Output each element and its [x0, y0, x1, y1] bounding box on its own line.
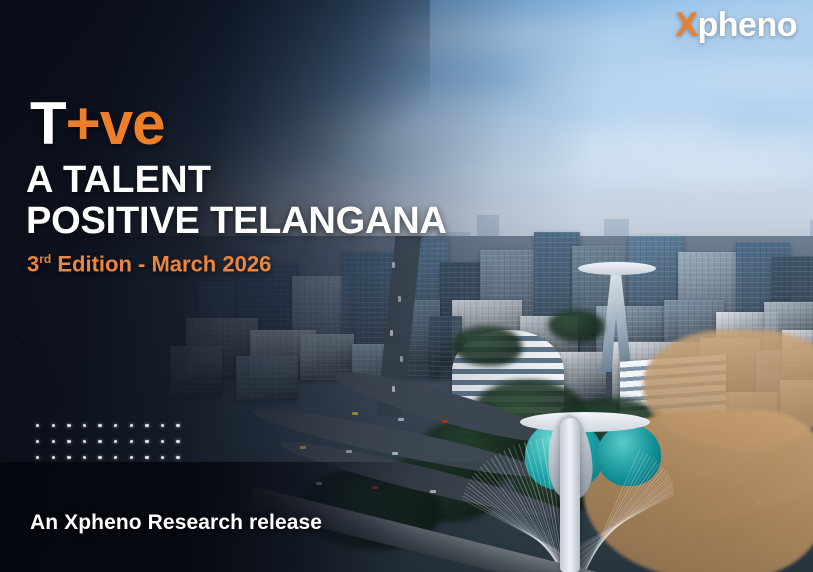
grid-dot [161, 424, 164, 427]
dot-grid-decoration [36, 424, 192, 472]
grid-dot [52, 440, 55, 443]
tve-wordmark: T+ve [30, 94, 164, 154]
tve-letter-t: T [30, 90, 66, 157]
tve-plus-ve: +ve [66, 90, 165, 157]
logo-x-mark: X [675, 6, 697, 44]
grid-dot [130, 440, 133, 443]
headline-line-2: POSITIVE TELANGANA [26, 201, 447, 242]
edition-ordinal-suffix: rd [39, 252, 51, 266]
grid-dot [161, 456, 164, 459]
grid-dot [114, 440, 117, 443]
grid-dot [130, 456, 133, 459]
grid-dot [176, 456, 179, 459]
grid-dot [114, 424, 117, 427]
grid-dot [98, 424, 101, 427]
grid-dot [161, 440, 164, 443]
grid-dot [36, 440, 39, 443]
grid-dot [145, 424, 148, 427]
grid-dot [67, 456, 70, 459]
xpheno-logo: Xpheno [675, 8, 797, 42]
grid-dot [83, 424, 86, 427]
grid-dot [114, 456, 117, 459]
grid-dot [176, 440, 179, 443]
logo-wordmark: pheno [698, 6, 797, 44]
headline-line-1: A TALENT [26, 159, 211, 201]
grid-dot [36, 424, 39, 427]
grid-dot [67, 440, 70, 443]
grid-dot [176, 424, 179, 427]
grid-dot [145, 440, 148, 443]
edition-label: 3rd Edition - March 2026 [27, 253, 271, 275]
footer-tagline: An Xpheno Research release [30, 512, 322, 533]
grid-dot [36, 456, 39, 459]
background-photo [0, 0, 813, 572]
grid-dot [52, 456, 55, 459]
report-cover: Xpheno T+ve A TALENT POSITIVE TELANGANA … [0, 0, 813, 572]
grid-dot [67, 424, 70, 427]
edition-number: 3 [27, 251, 39, 276]
edition-date: Edition - March 2026 [51, 251, 271, 276]
grid-dot [83, 456, 86, 459]
grid-dot [98, 456, 101, 459]
grid-dot [83, 440, 86, 443]
page-title: A TALENT POSITIVE TELANGANA [26, 160, 447, 242]
grid-dot [98, 440, 101, 443]
grid-dot [130, 424, 133, 427]
grid-dot [145, 456, 148, 459]
grid-dot [52, 424, 55, 427]
